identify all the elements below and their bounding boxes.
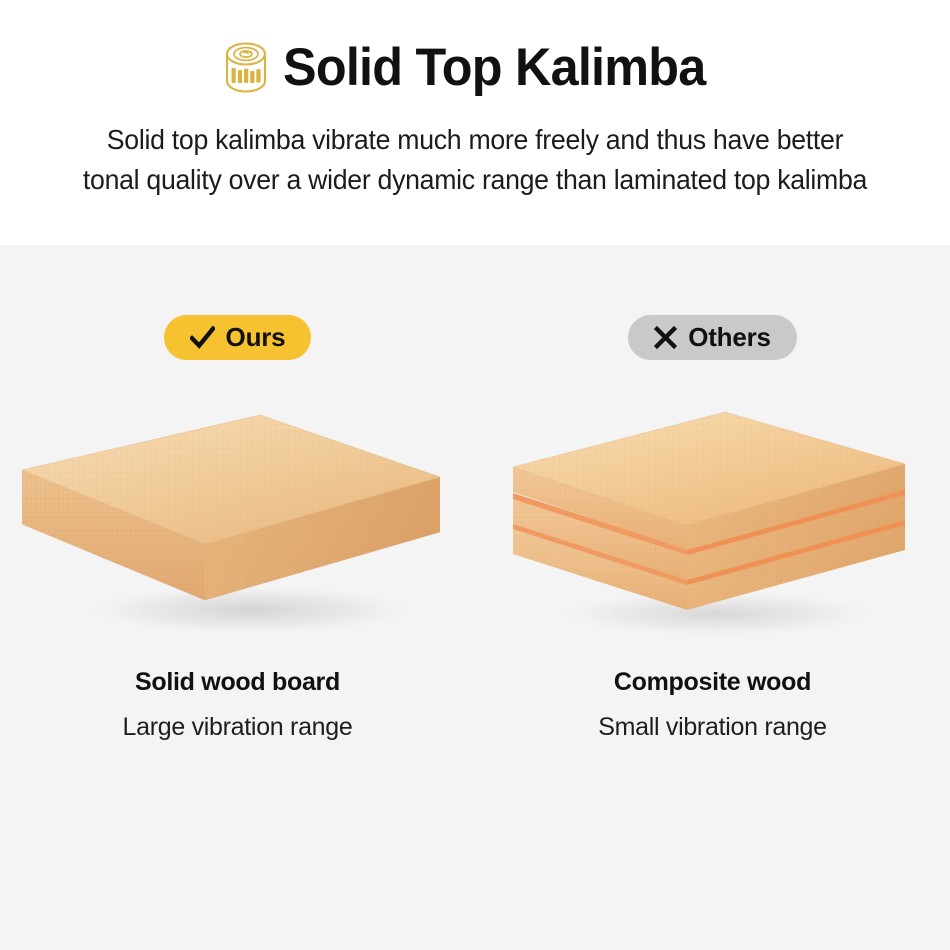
subtitle-line-1: Solid top kalimba vibrate much more free… bbox=[28, 120, 922, 160]
cross-icon bbox=[654, 326, 677, 349]
ours-badge-label: Ours bbox=[226, 322, 286, 353]
header-section: Solid Top Kalimba Solid top kalimba vibr… bbox=[0, 0, 950, 245]
others-caption-sub: Small vibration range bbox=[475, 713, 950, 742]
large-vibration-waveform bbox=[0, 780, 475, 890]
others-badge-wrap: Others bbox=[475, 245, 950, 360]
comparison-column-ours: Ours bbox=[0, 245, 475, 890]
wood-log-icon bbox=[223, 40, 269, 96]
composite-wood-board-image bbox=[475, 382, 950, 652]
comparison-column-others: Others bbox=[475, 245, 950, 890]
subtitle: Solid top kalimba vibrate much more free… bbox=[0, 120, 950, 200]
comparison-section: Ours bbox=[0, 245, 950, 950]
ours-caption-sub: Large vibration range bbox=[0, 713, 475, 742]
ours-badge[interactable]: Ours bbox=[164, 315, 312, 360]
infographic-page: Solid Top Kalimba Solid top kalimba vibr… bbox=[0, 0, 950, 950]
others-badge-label: Others bbox=[688, 322, 771, 353]
solid-wood-board-image bbox=[0, 382, 475, 652]
small-vibration-waveform bbox=[475, 780, 950, 890]
check-icon bbox=[190, 326, 215, 349]
comparison-columns: Ours bbox=[0, 245, 950, 890]
ours-badge-wrap: Ours bbox=[0, 245, 475, 360]
page-title: Solid Top Kalimba bbox=[283, 40, 706, 96]
ours-caption-main: Solid wood board bbox=[0, 668, 475, 697]
subtitle-line-2: tonal quality over a wider dynamic range… bbox=[28, 160, 922, 200]
others-caption-main: Composite wood bbox=[475, 668, 950, 697]
title-row: Solid Top Kalimba bbox=[0, 0, 950, 96]
others-badge[interactable]: Others bbox=[628, 315, 797, 360]
